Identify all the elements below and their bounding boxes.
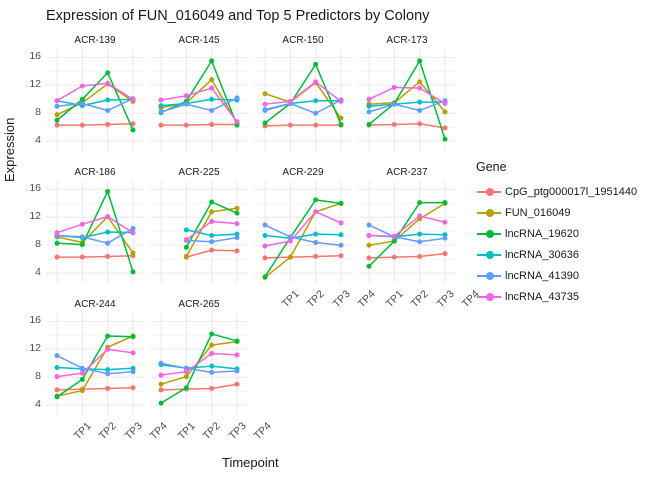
facet-panel-acr-237: ACR-237 [358,165,456,283]
x-tick-label: TP4 [148,420,170,442]
y-tick-label: 8 [19,106,41,118]
legend-key-swatch-icon [476,288,502,306]
panel-plot-area [358,181,456,283]
panel-plot-area [46,49,144,151]
facet-strip-label: ACR-145 [150,33,248,48]
panel-plot-area [358,49,456,151]
facet-panel-acr-229: ACR-229 [254,165,352,283]
legend-key-swatch-icon [476,225,502,243]
x-tick-label: TP3 [434,288,456,310]
page-title: Expression of FUN_016049 and Top 5 Predi… [46,8,429,24]
x-tick-label: TP2 [201,420,223,442]
legend-key-swatch-icon [476,267,502,285]
y-tick-label: 16 [19,182,41,194]
facet-strip-label: ACR-244 [46,297,144,312]
x-tick-label: TP2 [305,288,327,310]
panel-plot-area [46,313,144,415]
legend-key-swatch-icon [476,246,502,264]
legend-key-swatch-icon [476,204,502,222]
legend-item[interactable]: lncRNA_41390 [476,265,637,286]
legend: Gene CpG_ptg000017l_1951440FUN_016049lnc… [476,160,637,307]
x-tick-label: TP3 [330,288,352,310]
y-tick-label: 16 [19,314,41,326]
facet-strip-label: ACR-225 [150,165,248,180]
chart-root: Expression of FUN_016049 and Top 5 Predi… [0,0,672,480]
panel-plot-area [150,313,248,415]
facet-strip-label: ACR-150 [254,33,352,48]
legend-item[interactable]: lncRNA_30636 [476,244,637,265]
legend-item[interactable]: FUN_016049 [476,202,637,223]
panel-plot-area [254,49,352,151]
y-tick-label: 4 [19,266,41,278]
facet-strip-label: ACR-229 [254,165,352,180]
panel-plot-area [46,181,144,283]
panel-plot-area [150,49,248,151]
legend-item[interactable]: lncRNA_19620 [476,223,637,244]
facet-panel-acr-139: ACR-139 [46,33,144,151]
y-tick-label: 4 [19,398,41,410]
y-tick-label: 16 [19,50,41,62]
facet-panel-acr-145: ACR-145 [150,33,248,151]
facet-panel-acr-173: ACR-173 [358,33,456,151]
x-tick-label: TP1 [176,420,198,442]
facet-panel-acr-186: ACR-186 [46,165,144,283]
facet-panel-acr-225: ACR-225 [150,165,248,283]
facet-strip-label: ACR-186 [46,165,144,180]
x-tick-label: TP3 [226,420,248,442]
facet-strip-label: ACR-265 [150,297,248,312]
y-tick-label: 8 [19,238,41,250]
panel-plot-area [150,181,248,283]
facet-panel-acr-244: ACR-244 [46,297,144,415]
x-tick-label: TP4 [252,420,274,442]
x-tick-label: TP1 [280,288,302,310]
y-tick-label: 12 [19,210,41,222]
legend-key-swatch-icon [476,183,502,201]
legend-item-label: lncRNA_41390 [505,270,579,282]
legend-item-label: lncRNA_30636 [505,249,579,261]
panel-plot-area [254,181,352,283]
legend-item-label: CpG_ptg000017l_1951440 [505,186,637,198]
legend-item-label: lncRNA_19620 [505,228,579,240]
legend-item-label: lncRNA_43735 [505,291,579,303]
facet-panel-acr-265: ACR-265 [150,297,248,415]
x-tick-label: TP3 [122,420,144,442]
x-axis-title: Timepoint [222,455,279,470]
facet-strip-label: ACR-173 [358,33,456,48]
x-tick-label: TP1 [384,288,406,310]
x-tick-label: TP2 [97,420,119,442]
legend-title: Gene [476,160,637,174]
x-tick-label: TP1 [72,420,94,442]
y-tick-label: 4 [19,134,41,146]
y-tick-label: 12 [19,342,41,354]
y-tick-label: 12 [19,78,41,90]
x-tick-label: TP2 [409,288,431,310]
legend-item[interactable]: CpG_ptg000017l_1951440 [476,181,637,202]
legend-item[interactable]: lncRNA_43735 [476,286,637,307]
facet-panel-acr-150: ACR-150 [254,33,352,151]
x-tick-label: TP4 [356,288,378,310]
facet-strip-label: ACR-139 [46,33,144,48]
y-tick-label: 8 [19,370,41,382]
facet-strip-label: ACR-237 [358,165,456,180]
legend-item-label: FUN_016049 [505,207,570,219]
y-axis-title: Expression [2,118,17,182]
